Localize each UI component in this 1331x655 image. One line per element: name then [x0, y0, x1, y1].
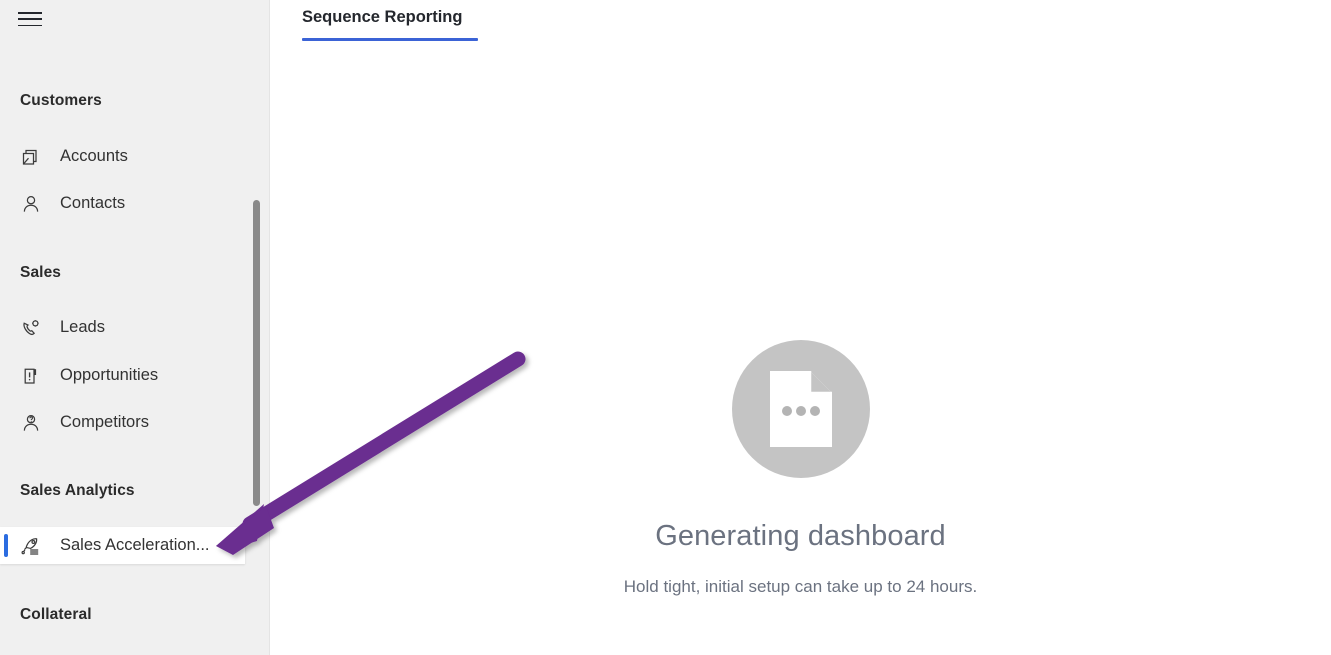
sidebar-group-title-customers: Customers [0, 92, 269, 110]
sidebar-item-accounts[interactable]: Accounts [0, 138, 269, 175]
sidebar-scrollbar-thumb[interactable] [253, 200, 260, 506]
app-root: Customers Accounts Contacts Sales [0, 0, 1331, 655]
empty-state-subtitle: Hold tight, initial setup can take up to… [624, 577, 977, 597]
hamburger-line-2 [18, 18, 42, 20]
tab-bar: Sequence Reporting [270, 0, 1331, 42]
leads-phone-icon [20, 316, 46, 340]
sidebar-item-contacts[interactable]: Contacts [0, 185, 269, 222]
hamburger-menu-icon[interactable] [18, 10, 42, 28]
sidebar-item-label-sales-acceleration: Sales Acceleration... [60, 537, 210, 554]
empty-state-generating-dashboard: Generating dashboard Hold tight, initial… [270, 340, 1331, 597]
competitors-person-question-icon [20, 411, 46, 435]
hamburger-line-3 [18, 25, 42, 27]
rocket-icon [20, 534, 46, 558]
document-ellipsis-icon [732, 340, 870, 478]
tab-active-underline [302, 38, 478, 41]
sidebar-group-title-sales: Sales [0, 264, 269, 282]
sidebar-group-title-collateral: Collateral [0, 606, 269, 624]
sidebar-group-title-sales-analytics: Sales Analytics [0, 482, 269, 500]
hamburger-line-1 [18, 12, 42, 14]
sidebar-item-label-leads: Leads [60, 319, 105, 336]
main-content: Sequence Reporting Generating dashboard … [270, 0, 1331, 655]
selected-indicator-bar [4, 534, 8, 557]
sidebar-item-sales-acceleration[interactable]: Sales Acceleration... [0, 527, 245, 564]
sidebar-item-label-accounts: Accounts [60, 148, 128, 165]
sidebar-item-competitors[interactable]: Competitors [0, 404, 269, 441]
tab-sequence-reporting[interactable]: Sequence Reporting [302, 8, 462, 37]
sidebar-item-leads[interactable]: Leads [0, 309, 269, 346]
sidebar: Customers Accounts Contacts Sales [0, 0, 270, 655]
accounts-icon [20, 145, 46, 169]
sidebar-item-label-opportunities: Opportunities [60, 367, 158, 384]
sidebar-item-opportunities[interactable]: Opportunities [0, 357, 269, 394]
sidebar-item-label-contacts: Contacts [60, 195, 125, 212]
opportunities-document-icon [20, 364, 46, 388]
contacts-person-icon [20, 192, 46, 216]
sidebar-item-label-competitors: Competitors [60, 414, 149, 431]
empty-state-title: Generating dashboard [655, 520, 946, 553]
